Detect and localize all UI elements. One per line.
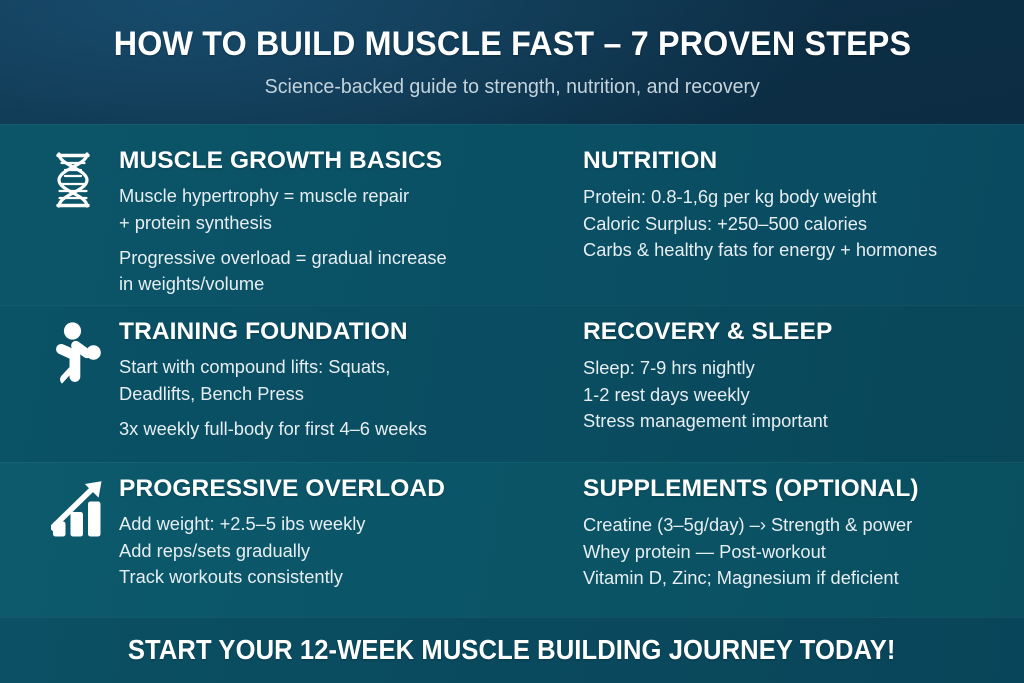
content-band-1: MUSCLE GROWTH BASICS Muscle hypertrophy … (0, 124, 1024, 305)
running-figure-icon (51, 319, 119, 384)
growth-chart-arrow-icon (51, 476, 119, 541)
section-supplements: SUPPLEMENTS (OPTIONAL) Creatine (3–5g/da… (583, 476, 1024, 617)
section-body: Sleep: 7-9 hrs nightly 1-2 rest days wee… (583, 355, 1024, 433)
section-title: SUPPLEMENTS (OPTIONAL) (583, 476, 1024, 501)
body-line: Stress management important (583, 408, 1024, 434)
section-title: MUSCLE GROWTH BASICS (119, 148, 583, 173)
body-line: Deadlifts, Bench Press (119, 381, 583, 407)
body-line: in weights/volume (119, 271, 583, 297)
header-banner: HOW TO BUILD MUSCLE FAST – 7 PROVEN STEP… (0, 0, 1024, 124)
body-line: Vitamin D, Zinc; Magnesium if deficient (583, 565, 1024, 591)
section-text: RECOVERY & SLEEP Sleep: 7-9 hrs nightly … (583, 319, 1024, 434)
section-text: MUSCLE GROWTH BASICS Muscle hypertrophy … (119, 148, 583, 297)
body-line: Whey protein — Post-workout (583, 539, 1024, 565)
cta-text: START YOUR 12-WEEK MUSCLE BUILDING JOURN… (128, 636, 896, 664)
body-line: Progressive overload = gradual increase (119, 245, 583, 271)
body-line: Protein: 0.8-1,6g per kg body weight (583, 184, 1024, 210)
body-line: 1-2 rest days weekly (583, 382, 1024, 408)
body-line: Start with compound lifts: Squats, (119, 354, 583, 380)
footer-cta-banner: START YOUR 12-WEEK MUSCLE BUILDING JOURN… (0, 617, 1024, 683)
infographic-root: HOW TO BUILD MUSCLE FAST – 7 PROVEN STEP… (0, 0, 1024, 683)
body-line: Sleep: 7-9 hrs nightly (583, 355, 1024, 381)
section-recovery-sleep: RECOVERY & SLEEP Sleep: 7-9 hrs nightly … (583, 319, 1024, 462)
section-text: TRAINING FOUNDATION Start with compound … (119, 319, 583, 442)
page-title: HOW TO BUILD MUSCLE FAST – 7 PROVEN STEP… (113, 27, 910, 62)
section-muscle-growth-basics: MUSCLE GROWTH BASICS Muscle hypertrophy … (0, 148, 583, 305)
body-line: Add weight: +2.5–5 ibs weekly (119, 511, 583, 537)
section-body: Creatine (3–5g/day) –› Strength & power … (583, 512, 1024, 590)
section-title: PROGRESSIVE OVERLOAD (119, 476, 583, 501)
section-nutrition: NUTRITION Protein: 0.8-1,6g per kg body … (583, 148, 1024, 305)
body-line: Caloric Surplus: +250–500 calories (583, 211, 1024, 237)
section-body: Protein: 0.8-1,6g per kg body weight Cal… (583, 184, 1024, 262)
body-line: Muscle hypertrophy = muscle repair (119, 183, 583, 209)
dna-helix-icon (51, 148, 119, 213)
section-progressive-overload: PROGRESSIVE OVERLOAD Add weight: +2.5–5 … (0, 476, 583, 617)
section-text: NUTRITION Protein: 0.8-1,6g per kg body … (583, 148, 1024, 263)
body-line: Creatine (3–5g/day) –› Strength & power (583, 512, 1024, 538)
content-band-2: TRAINING FOUNDATION Start with compound … (0, 305, 1024, 462)
section-title: TRAINING FOUNDATION (119, 319, 583, 344)
body-line: Track workouts consistently (119, 564, 583, 590)
body-line: + protein synthesis (119, 210, 583, 236)
section-title: RECOVERY & SLEEP (583, 319, 1024, 344)
page-subtitle: Science-backed guide to strength, nutrit… (264, 77, 759, 98)
section-body: Start with compound lifts: Squats, Deadl… (119, 354, 583, 441)
body-line: Carbs & healthy fats for energy + hormon… (583, 237, 1024, 263)
body-line: Add reps/sets gradually (119, 538, 583, 564)
body-line: 3x weekly full-body for first 4–6 weeks (119, 416, 583, 442)
section-body: Add weight: +2.5–5 ibs weekly Add reps/s… (119, 511, 583, 589)
section-title: NUTRITION (583, 148, 1024, 173)
section-body: Muscle hypertrophy = muscle repair + pro… (119, 183, 583, 297)
section-text: SUPPLEMENTS (OPTIONAL) Creatine (3–5g/da… (583, 476, 1024, 591)
section-training-foundation: TRAINING FOUNDATION Start with compound … (0, 319, 583, 462)
content-band-3: PROGRESSIVE OVERLOAD Add weight: +2.5–5 … (0, 462, 1024, 617)
section-text: PROGRESSIVE OVERLOAD Add weight: +2.5–5 … (119, 476, 583, 590)
